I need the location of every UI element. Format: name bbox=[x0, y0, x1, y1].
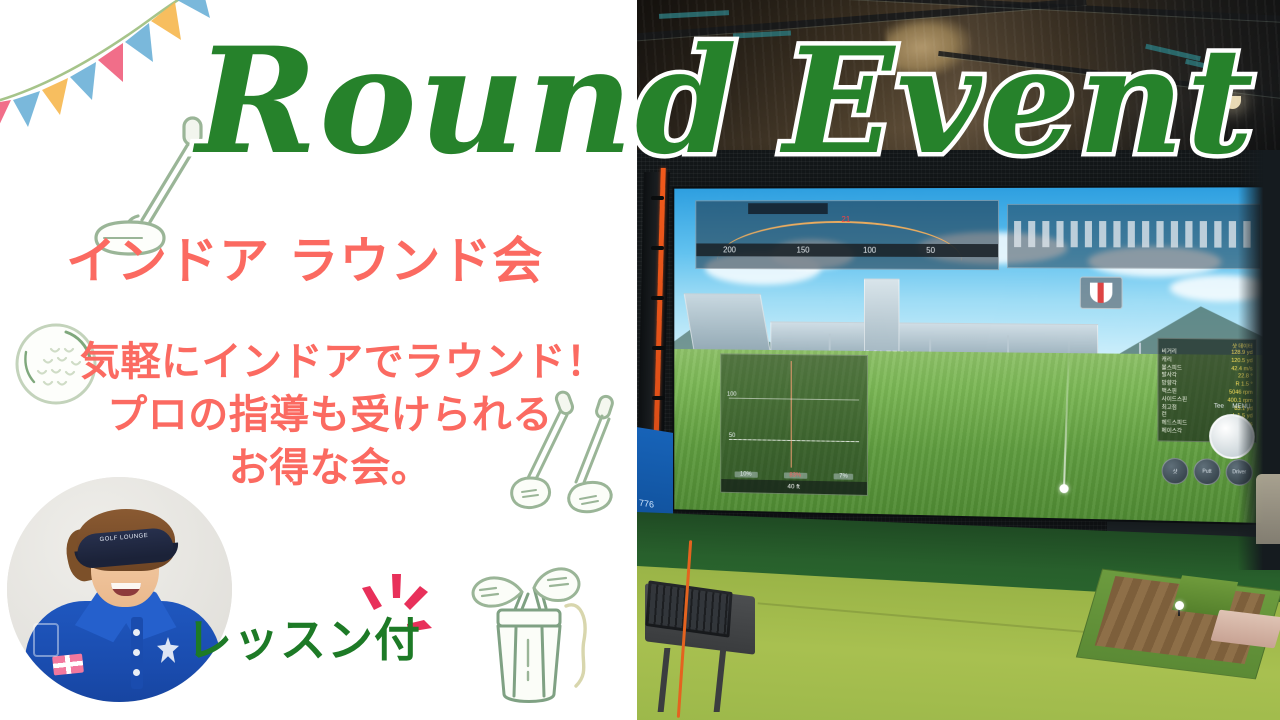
screen-clip bbox=[651, 196, 664, 200]
tee-label[interactable]: Tee bbox=[1214, 404, 1224, 410]
grid-horizontal-line bbox=[729, 398, 859, 401]
putting-grid-panel: 100 50 10% 83% 7% 40 ft bbox=[720, 353, 868, 496]
subtitle: インドア ラウンド会 bbox=[66, 232, 606, 290]
axis-tick: 150 bbox=[797, 246, 810, 255]
axis-tick: 200 bbox=[723, 245, 736, 254]
green-view-icon[interactable] bbox=[1080, 277, 1123, 310]
teed-golf-ball bbox=[1175, 601, 1184, 610]
bunting-flags bbox=[0, 0, 210, 128]
poster-root: GOLFZON 21 200 150 100 50 bbox=[0, 0, 1280, 720]
side-monitor-reading: 776 bbox=[639, 497, 654, 509]
portrait-teeth bbox=[111, 583, 141, 589]
trajectory-panel: 21 200 150 100 50 bbox=[695, 200, 999, 270]
screen-clip bbox=[651, 296, 664, 300]
stat-label: 캐리 bbox=[1162, 357, 1172, 365]
title-word-round: Round bbox=[196, 16, 739, 187]
putt-distance-label: 40 ft bbox=[721, 479, 867, 495]
trajectory-axis: 200 150 100 50 bbox=[696, 243, 998, 257]
portrait-button bbox=[133, 629, 140, 636]
club-selection-strip[interactable] bbox=[1007, 204, 1261, 269]
page-title: RoundEvent bbox=[196, 22, 1156, 192]
golf-bag-icon bbox=[448, 548, 598, 713]
apex-marker: 21 bbox=[841, 215, 850, 224]
grid-label: 50 bbox=[729, 433, 735, 439]
lesson-included-badge: レッスン付 bbox=[186, 614, 421, 666]
axis-tick: 50 bbox=[926, 246, 935, 255]
body-line-2: プロの指導も受けられる bbox=[80, 389, 580, 442]
body-line-3: お得な会。 bbox=[80, 442, 580, 495]
ball-marker bbox=[1059, 484, 1068, 493]
screen-clip bbox=[652, 396, 665, 400]
portrait-button bbox=[133, 669, 140, 676]
stat-label: 페이스각 bbox=[1162, 428, 1182, 436]
grid-horizontal-line bbox=[729, 439, 859, 442]
stat-label: 방향각 bbox=[1162, 381, 1177, 389]
person-edge bbox=[1256, 474, 1280, 544]
putt-button[interactable]: Putt bbox=[1194, 458, 1221, 485]
axis-tick: 100 bbox=[863, 246, 876, 255]
stat-label: 백스핀 bbox=[1162, 389, 1177, 397]
grid-label: 100 bbox=[727, 392, 737, 398]
break-mid: 83% bbox=[784, 472, 807, 478]
shot-button[interactable]: 샷 bbox=[1162, 458, 1189, 485]
screen-clip bbox=[651, 246, 664, 250]
body-line-1: 気軽にインドアでラウンド！ bbox=[80, 336, 580, 389]
break-right: 7% bbox=[833, 473, 853, 479]
title-word-event: Event bbox=[783, 16, 1256, 187]
screen-clip bbox=[652, 346, 665, 350]
bunting-string bbox=[0, 0, 212, 106]
body-copy: 気軽にインドアでラウンド！ プロの指導も受けられる お得な会。 bbox=[80, 336, 580, 495]
portrait-union-jack-patch bbox=[52, 653, 84, 675]
simulator-screen: GOLFZON 21 200 150 100 50 bbox=[672, 185, 1265, 525]
tee-peg bbox=[1178, 609, 1180, 616]
stat-label: 비거리 bbox=[1162, 349, 1177, 357]
grid-vertical-line bbox=[791, 361, 792, 468]
break-left: 10% bbox=[734, 471, 757, 477]
trajectory-panel-header bbox=[748, 203, 828, 214]
desk-legs bbox=[658, 648, 727, 712]
portrait-sleeve-logo bbox=[33, 623, 59, 657]
golf-pro-portrait: GOLF LOUNGE bbox=[7, 477, 232, 702]
portrait-button bbox=[133, 649, 140, 656]
